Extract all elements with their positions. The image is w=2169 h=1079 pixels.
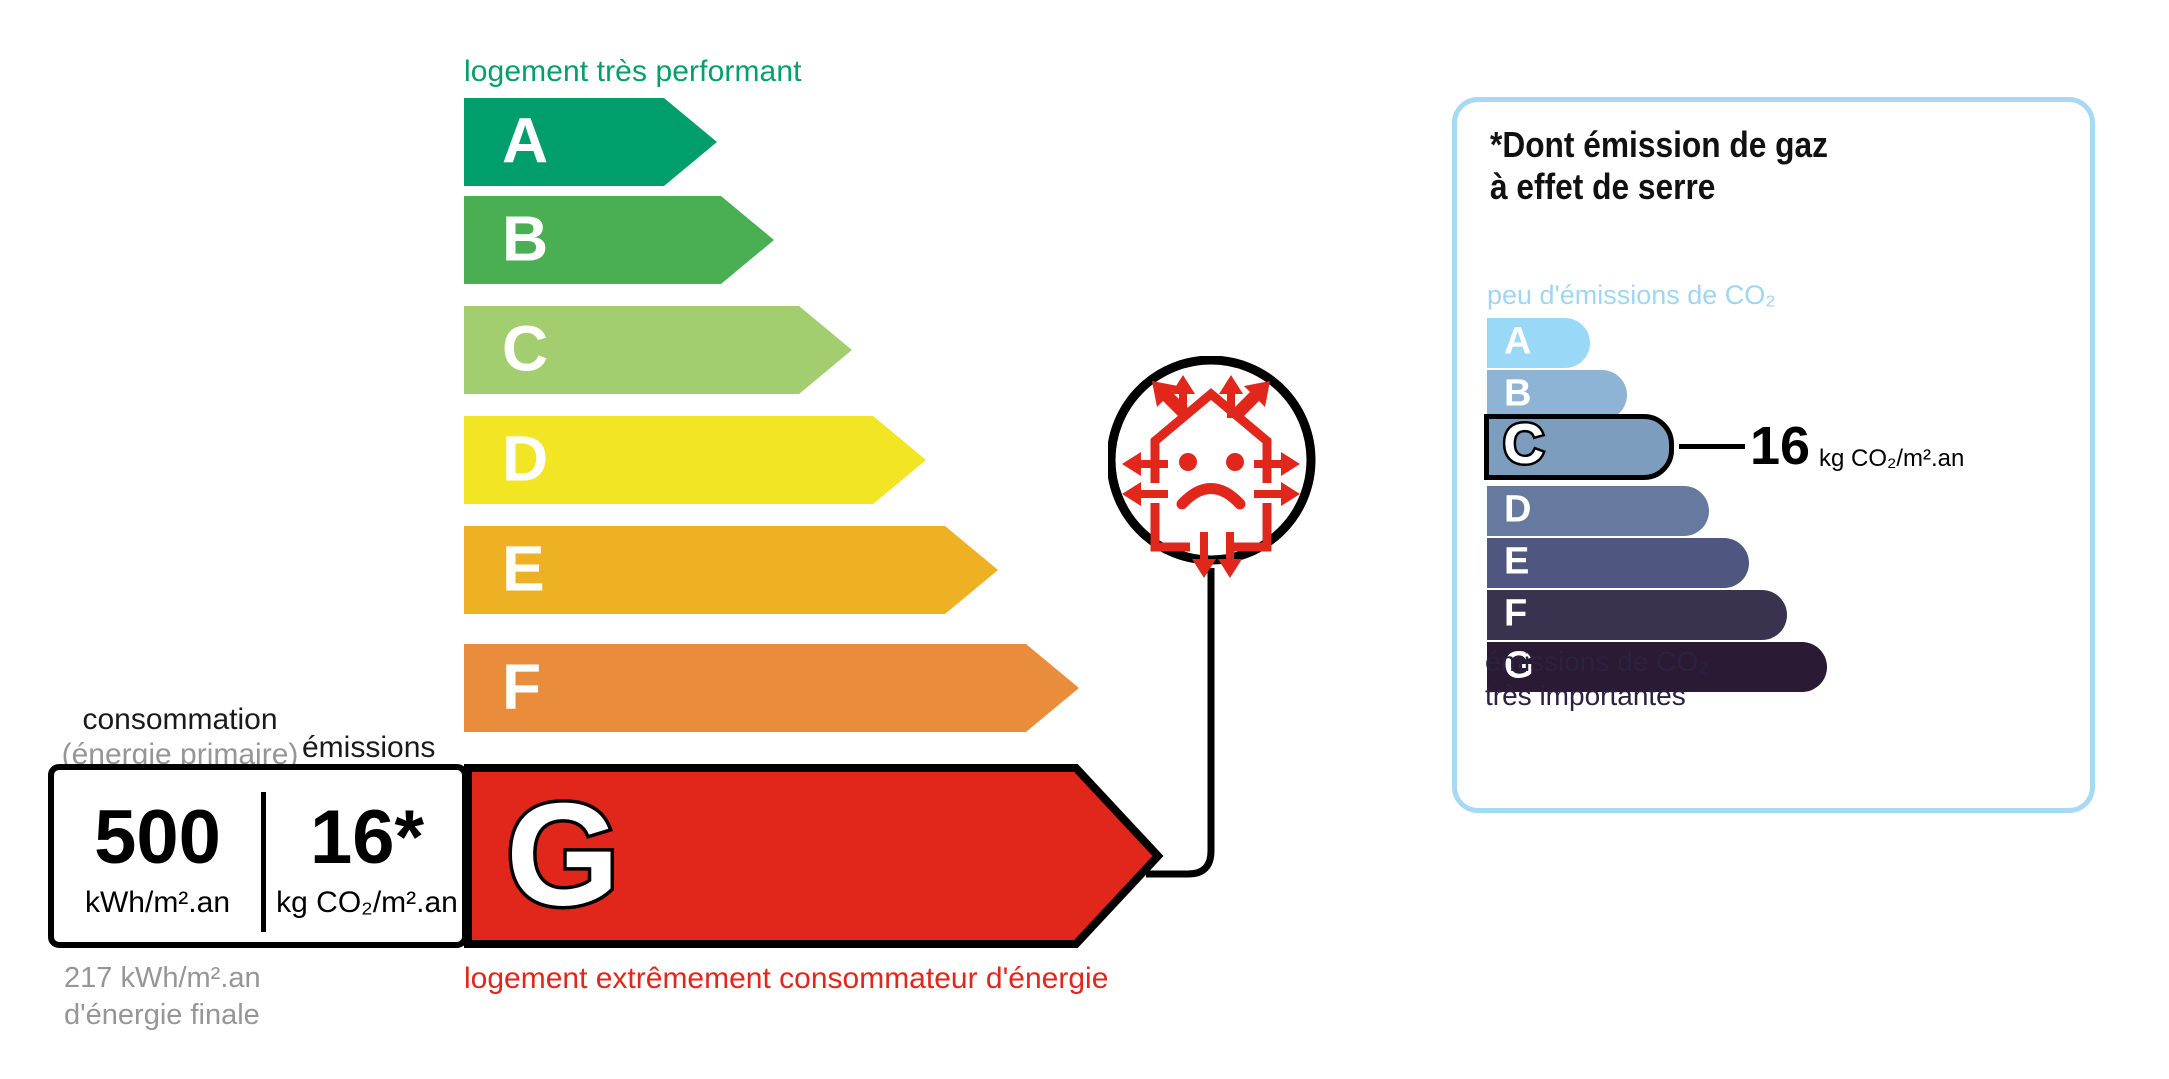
co2-bar-c-selected[interactable]: C [1484,414,1674,480]
co2-bar-e-letter: E [1504,542,1529,580]
co2-value-unit: kg CO₂/m².an [1819,447,1964,471]
co2-bar-f[interactable]: F [1487,590,1787,640]
rating-marker [1108,356,1338,896]
co2-top-caption: peu d'émissions de CO₂ [1487,280,1776,311]
co2-bottom-caption: émissions de CO₂ très importantes [1485,645,1709,713]
energy-band-b-letter: B [502,207,548,271]
co2-bar-d-letter: D [1504,490,1531,528]
co2-bar-b-letter: B [1504,374,1531,412]
sad-house-heat-loss-icon [1108,356,1338,896]
co2-panel-title: *Dont émission de gaz à effet de serre [1490,124,1828,208]
energy-band-a-letter: A [502,109,548,173]
final-energy-note: 217 kWh/m².an d'énergie finale [64,960,261,1034]
consumption-label-main: consommation [60,702,300,737]
energy-band-d-letter: D [502,427,548,491]
band-f-shape [464,644,1079,732]
energy-band-c[interactable]: C [464,306,852,394]
co2-bottom-line2: très importantes [1485,679,1709,713]
final-energy-line1: 217 kWh/m².an [64,960,261,997]
energy-band-c-letter: C [502,317,548,381]
energy-band-f-letter: F [502,655,541,719]
dpe-diagram: logement très performant A B C D [0,0,2169,1079]
consumption-unit: kWh/m².an [54,888,261,918]
energy-band-e[interactable]: E [464,526,998,614]
co2-bottom-line1: émissions de CO₂ [1485,645,1709,679]
energy-band-e-letter: E [502,537,545,601]
energy-band-f[interactable]: F [464,644,1079,732]
co2-leader-line [1679,444,1745,449]
co2-bar-d[interactable]: D [1487,486,1709,536]
emissions-unit: kg CO₂/m².an [266,888,468,918]
emissions-value: 16* [266,800,468,876]
emissions-label: émissions [302,730,435,765]
consumption-value: 500 [54,800,261,876]
ladder-top-caption: logement très performant [464,55,802,89]
energy-band-a[interactable]: A [464,98,717,186]
emissions-metric: 16* kg CO₂/m².an [266,770,468,942]
consumption-label: consommation (énergie primaire) [60,702,300,773]
energy-band-g-letter: G [506,782,620,928]
consumption-value-box: 500 kWh/m².an 16* kg CO₂/m².an [48,764,468,948]
co2-bar-f-letter: F [1504,594,1527,632]
co2-bar-c-letter: C [1503,416,1544,473]
ladder-bottom-caption: logement extrêmement consommateur d'éner… [464,962,1108,996]
energy-band-b[interactable]: B [464,196,774,284]
co2-bar-e[interactable]: E [1487,538,1749,588]
co2-panel: *Dont émission de gaz à effet de serre p… [1452,97,2095,813]
final-energy-line2: d'énergie finale [64,997,261,1034]
co2-bar-a-letter: A [1504,322,1531,360]
energy-ladder: logement très performant A B C D [0,0,1250,1079]
co2-title-line2: à effet de serre [1490,166,1828,208]
co2-title-line1: *Dont émission de gaz [1490,124,1828,166]
consumption-metric: 500 kWh/m².an [54,770,261,942]
co2-value: 16 [1750,419,1810,473]
co2-bar-a[interactable]: A [1487,318,1590,368]
energy-band-d[interactable]: D [464,416,926,504]
